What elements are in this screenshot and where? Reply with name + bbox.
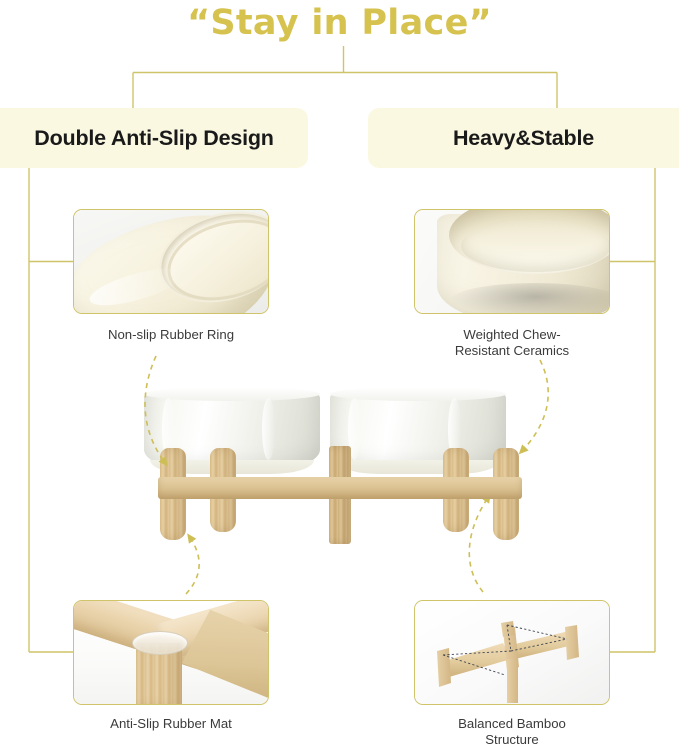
category-label-heavy-and-stable: Heavy&Stable <box>368 108 679 168</box>
feature-caption-non-slip-rubber-ring: Non-slip Rubber Ring <box>63 327 279 343</box>
bamboo-leg-rubber-pad-photo <box>74 601 268 704</box>
infographic-canvas: “Stay in Place” Double Anti-S <box>0 0 679 745</box>
category-label-double-anti-slip-design: Double Anti-Slip Design <box>0 108 308 168</box>
page-title: “Stay in Place” <box>0 1 679 45</box>
feature-photo-weighted-chew-resistant-ceramics <box>414 209 610 314</box>
bamboo-stand-underside-photo <box>415 601 609 704</box>
feature-photo-non-slip-rubber-ring <box>73 209 269 314</box>
bowl-interior-ceramic-photo <box>415 210 609 313</box>
hero-product-image <box>130 380 550 545</box>
feature-caption-anti-slip-rubber-mat: Anti-Slip Rubber Mat <box>63 716 279 732</box>
feature-photo-anti-slip-rubber-mat <box>73 600 269 705</box>
bamboo-cross-rail <box>158 477 522 499</box>
feature-caption-balanced-bamboo-structure: Balanced BambooStructure <box>404 716 620 748</box>
ceramic-bowl-right <box>330 392 506 470</box>
bowl-underside-rubber-ring-photo <box>74 210 268 313</box>
feature-caption-weighted-chew-resistant-ceramics: Weighted Chew-Resistant Ceramics <box>404 327 620 359</box>
feature-photo-balanced-bamboo-structure <box>414 600 610 705</box>
category-label-text: Double Anti-Slip Design <box>0 126 308 151</box>
category-label-text: Heavy&Stable <box>368 126 679 151</box>
